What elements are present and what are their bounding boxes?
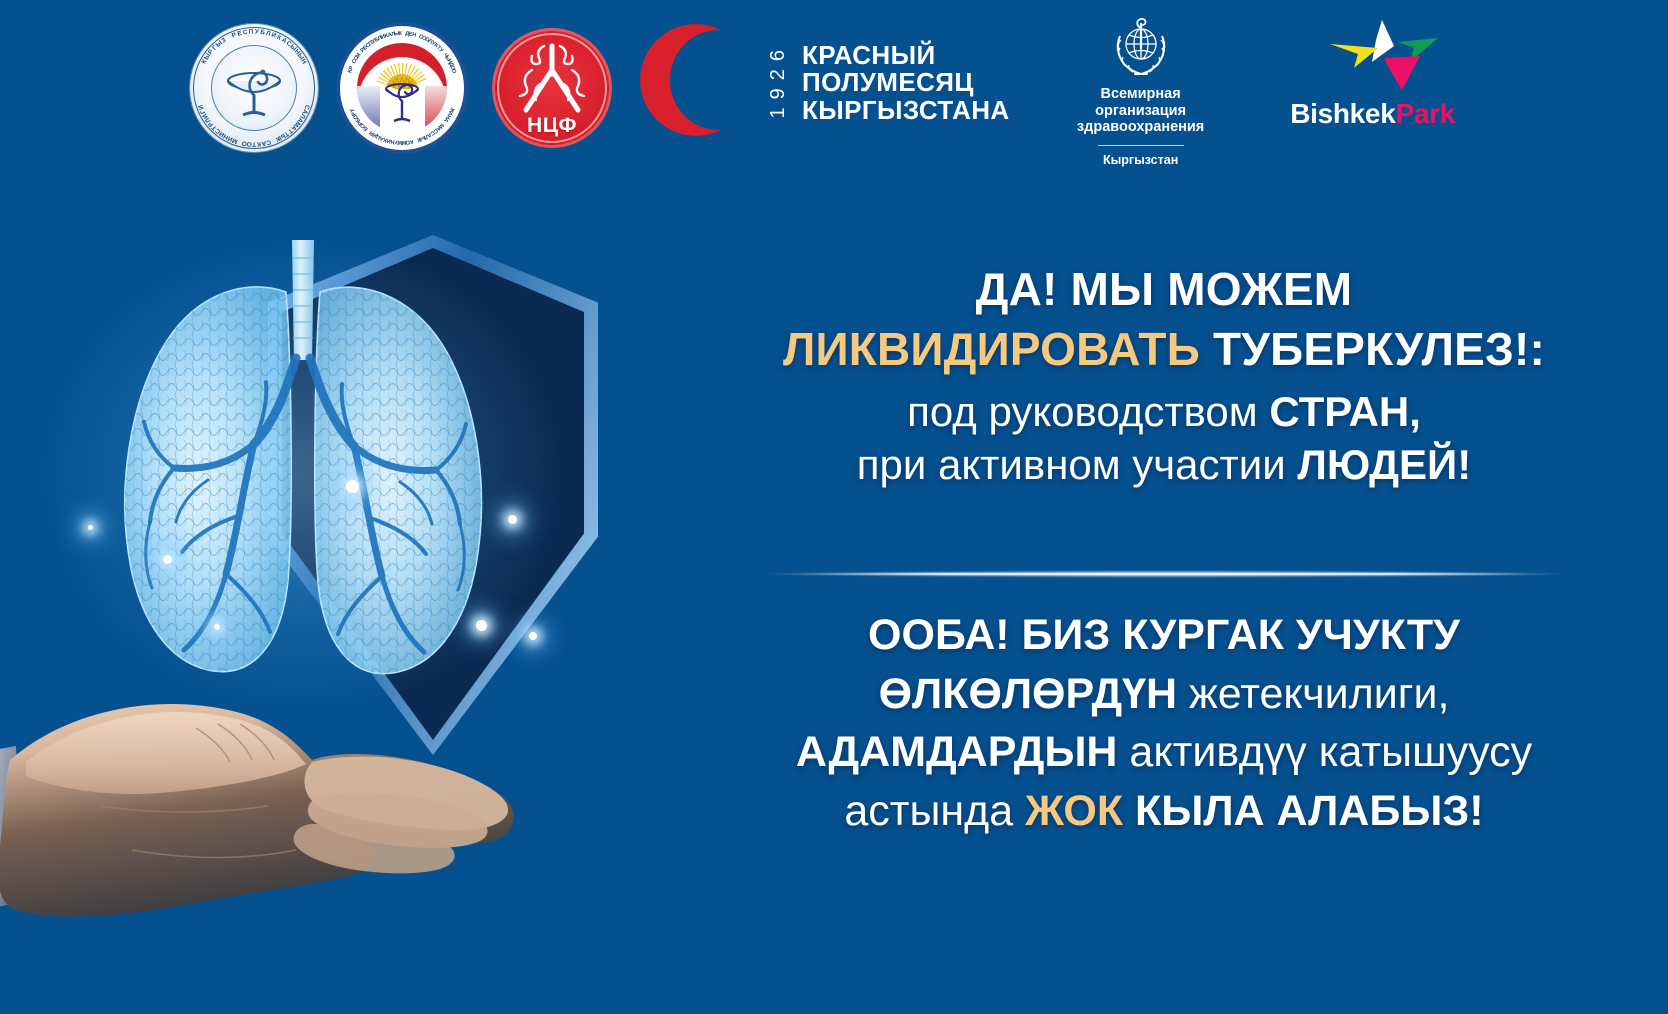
rchc-ring-bottom-text-char: М (398, 139, 403, 145)
ru-line-3: под руководством СТРАН, (660, 387, 1668, 437)
logo-national-center-phthisiology: НЦФ (468, 0, 612, 148)
ministry-ring-top-text-char: П (249, 28, 254, 35)
ru-line-2: ЛИКВИДИРОВАТЬ ТУБЕРКУЛЕЗ!: (660, 322, 1668, 376)
ministry-ring-top-text-char: У (255, 28, 260, 35)
ru-line-1: ДА! МЫ МОЖЕМ (660, 262, 1668, 316)
red-crescent-name: КРАСНЫЙ ПОЛУМЕСЯЦ КЫРГЫЗСТАНА (802, 42, 1010, 125)
ru-line-3-bold: СТРАН, (1269, 388, 1421, 435)
logo-who: Всемирная организация здравоохранения Кы… (1056, 14, 1226, 167)
tb-awareness-poster: КЫРГЫЗ РЕСПУБЛИКАСЫНЫНСАЛАМАТТЫК САКТОО … (0, 0, 1668, 1014)
ky-line-3: АДАМДАРДЫН активдүү катышуусу (660, 727, 1668, 778)
rchc-seal-icon: КР ССМ РЕСПУБЛИКАЛЫК ДЕН СООЛУКТУ ЧЫҢДОО… (336, 22, 468, 154)
sparkle-icon (346, 480, 359, 493)
ministry-ring-top-text-char: Н (299, 58, 307, 66)
sparkle-icon (88, 525, 93, 530)
logo-bishkek-park: BishkekPark (1278, 18, 1468, 130)
ornamental-lungs-icon (506, 40, 598, 118)
ky-line-4: астында ЖОК КЫЛА АЛАБЫЗ! (660, 786, 1668, 837)
ky-line-2-bold: ӨЛКӨЛӨРДҮН (879, 670, 1178, 718)
ncf-seal-icon: НЦФ (492, 28, 612, 148)
multicolor-star-icon (1298, 18, 1448, 96)
partner-logo-bar: КЫРГЫЗ РЕСПУБЛИКАСЫНЫНСАЛАМАТТЫК САКТОО … (0, 0, 1668, 180)
logo-republican-health-center: КР ССМ РЕСПУБЛИКАЛЫК ДЕН СООЛУКТУ ЧЫҢДОО… (318, 0, 468, 154)
ru-line-2-accent: ЛИКВИДИРОВАТЬ (783, 323, 1200, 375)
message-panel: ДА! МЫ МОЖЕМ ЛИКВИДИРОВАТЬ ТУБЕРКУЛЕЗ!: … (660, 180, 1668, 1014)
bishkek-park-name-part1: Bishkek (1290, 98, 1395, 129)
message-russian: ДА! МЫ МОЖЕМ ЛИКВИДИРОВАТЬ ТУБЕРКУЛЕЗ!: … (660, 262, 1668, 490)
message-kyrgyz: ООБА! БИЗ КУРГАК УЧУКТУ ӨЛКӨЛӨРДҮН жетек… (660, 610, 1668, 837)
lungs-shield-hand-artwork (0, 180, 680, 1014)
section-divider (690, 570, 1640, 578)
ministry-ring-bottom-text-char: А (261, 139, 267, 147)
sparkle-icon (508, 515, 517, 524)
ky-line-1: ООБА! БИЗ КУРГАК УЧУКТУ (660, 610, 1668, 661)
red-crescent-line2: ПОЛУМЕСЯЦ (802, 69, 1010, 97)
ru-line-4: при активном участии ЛЮДЕЙ! (660, 440, 1668, 490)
ministry-ring-top-text-char: С (242, 29, 248, 37)
open-hand-illustration (0, 610, 602, 1010)
bishkek-park-wordmark: BishkekPark (1278, 98, 1468, 130)
ky-line-2-light: жетекчилиги, (1177, 670, 1449, 718)
rchc-ring-top-text-char: О (450, 68, 457, 74)
rchc-ring-text: КР ССМ РЕСПУБЛИКАЛЫК ДЕН СООЛУКТУ ЧЫҢДОО… (340, 26, 464, 150)
who-line3: здравоохранения (1056, 119, 1226, 136)
who-country: Кыргызстан (1056, 153, 1226, 167)
ky-line-2: ӨЛКӨЛӨРДҮН жетекчилиги, (660, 669, 1668, 720)
ministry-seal-icon: КЫРГЫЗ РЕСПУБЛИКАСЫНЫНСАЛАМАТТЫК САКТОО … (190, 24, 318, 152)
ministry-ring-bottom-text-char: Т (252, 141, 256, 148)
who-name: Всемирная организация здравоохранения (1056, 86, 1226, 136)
ru-line-2-rest: ТУБЕРКУЛЕЗ!: (1200, 323, 1545, 375)
who-line1: Всемирная (1056, 86, 1226, 103)
ncf-abbreviation: НЦФ (492, 114, 612, 138)
ministry-ring-text: КЫРГЫЗ РЕСПУБЛИКАСЫНЫНСАЛАМАТТЫК САКТОО … (190, 24, 318, 152)
ky-line-4-light: астында (844, 787, 1025, 835)
rchc-ring-top-text-char: Н (411, 32, 416, 39)
logo-ministry-of-health: КЫРГЫЗ РЕСПУБЛИКАСЫНЫНСАЛАМАТТЫК САКТОО … (190, 0, 318, 152)
logo-red-crescent: 1926 КРАСНЫЙ ПОЛУМЕСЯЦ КЫРГЫЗСТАНА (640, 24, 1010, 136)
rchc-ring-top-text-char: К (398, 31, 402, 37)
red-crescent-line1: КРАСНЫЙ (802, 42, 1010, 70)
red-crescent-line3: КЫРГЫЗСТАНА (802, 97, 1010, 125)
who-line2: организация (1056, 103, 1226, 120)
ky-line-4-rest: КЫЛА АЛАБЫЗ! (1123, 787, 1484, 835)
red-crescent-icon (640, 24, 752, 136)
ru-line-4-plain: при активном участии (857, 441, 1298, 488)
red-crescent-year: 1926 (768, 42, 788, 119)
who-emblem-icon (1108, 14, 1174, 80)
ky-line-3-bold: АДАМДАРДЫН (796, 728, 1118, 776)
ky-line-4-accent: ЖОК (1025, 787, 1123, 835)
ministry-ring-bottom-text-char: К (257, 140, 262, 147)
ru-line-3-plain: под руководством (907, 388, 1269, 435)
who-divider (1098, 145, 1184, 146)
bishkek-park-name-part2: Park (1395, 98, 1455, 129)
sparkle-icon (163, 555, 172, 564)
ky-line-3-light: активдүү катышуусу (1117, 728, 1532, 776)
ru-line-4-bold: ЛЮДЕЙ! (1297, 441, 1471, 488)
